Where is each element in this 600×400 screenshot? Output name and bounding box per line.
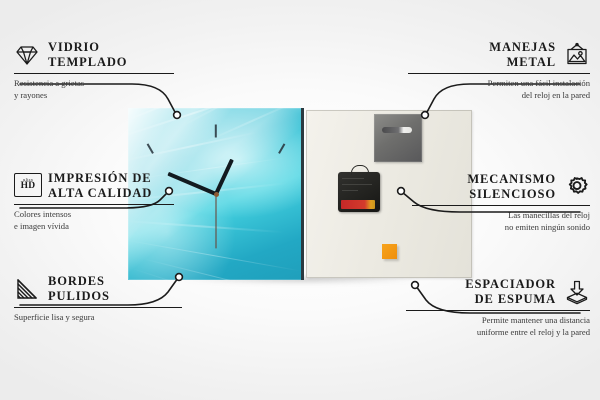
foam-spacer bbox=[382, 244, 397, 259]
clock-tick bbox=[278, 143, 285, 154]
down-arrow-stack-icon bbox=[564, 279, 590, 305]
callout-mecanismo-silencioso: MECANISMO SILENCIOSO Las manecillas del … bbox=[412, 172, 590, 233]
callout-title: MECANISMO SILENCIOSO bbox=[467, 172, 556, 202]
callout-manejas-metal: MANEJAS METAL Permiten una fácil instala… bbox=[408, 40, 590, 101]
callout-description: Permite mantener una distancia uniforme … bbox=[406, 315, 590, 338]
callout-description: Las manecillas del reloj no emiten ningú… bbox=[412, 210, 590, 233]
callout-title: MANEJAS METAL bbox=[489, 40, 556, 70]
clock-battery bbox=[341, 200, 375, 209]
badge-large-text: HD bbox=[21, 182, 36, 192]
callout-vidrio-templado: VIDRIO TEMPLADO Resistencia a grietas y … bbox=[14, 40, 174, 101]
polished-edge-icon bbox=[14, 276, 40, 302]
clock-tick bbox=[215, 125, 217, 138]
callout-title: IMPRESIÓN DE ALTA CALIDAD bbox=[48, 171, 152, 201]
mechanism-detail bbox=[342, 178, 364, 179]
callout-divider bbox=[14, 204, 174, 206]
clock-mechanism bbox=[338, 172, 380, 212]
callout-bordes-pulidos: BORDES PULIDOS Superficie lisa y segura bbox=[14, 274, 182, 324]
callout-divider bbox=[412, 205, 590, 207]
callout-divider bbox=[408, 73, 590, 75]
clock-second-hand bbox=[216, 194, 217, 248]
clock-tick bbox=[147, 143, 154, 154]
clock-hour-hand bbox=[214, 159, 234, 195]
diamond-icon bbox=[14, 42, 40, 68]
callout-title: ESPACIADOR DE ESPUMA bbox=[465, 277, 556, 307]
clock-minute-hand bbox=[167, 172, 216, 196]
mechanism-hanger-loop bbox=[351, 165, 369, 175]
callout-description: Colores intensos e imagen vívida bbox=[14, 209, 174, 232]
callout-description: Superficie lisa y segura bbox=[14, 312, 182, 324]
product-infographic: VIDRIO TEMPLADO Resistencia a grietas y … bbox=[0, 0, 600, 400]
callout-title: BORDES PULIDOS bbox=[48, 274, 110, 304]
callout-divider bbox=[14, 307, 182, 309]
hanger-slot bbox=[382, 127, 412, 133]
callout-espaciador-espuma: ESPACIADOR DE ESPUMA Permite mantener un… bbox=[406, 277, 590, 338]
callout-description: Permiten una fácil instalación del reloj… bbox=[408, 78, 590, 101]
callout-title: VIDRIO TEMPLADO bbox=[48, 40, 127, 70]
ultra-hd-badge-icon: ultra HD bbox=[14, 173, 40, 199]
picture-frame-hanging-icon bbox=[564, 42, 590, 68]
callout-description: Resistencia a grietas y rayones bbox=[14, 78, 174, 101]
mechanism-detail bbox=[342, 190, 358, 191]
callout-divider bbox=[14, 73, 174, 75]
mechanism-detail bbox=[342, 184, 372, 185]
metal-hanger-plate bbox=[374, 114, 422, 162]
callout-divider bbox=[406, 310, 590, 312]
callout-impresion-alta-calidad: ultra HD IMPRESIÓN DE ALTA CALIDAD Color… bbox=[14, 171, 174, 232]
gear-icon bbox=[564, 174, 590, 200]
clock-center-cap bbox=[214, 192, 219, 197]
